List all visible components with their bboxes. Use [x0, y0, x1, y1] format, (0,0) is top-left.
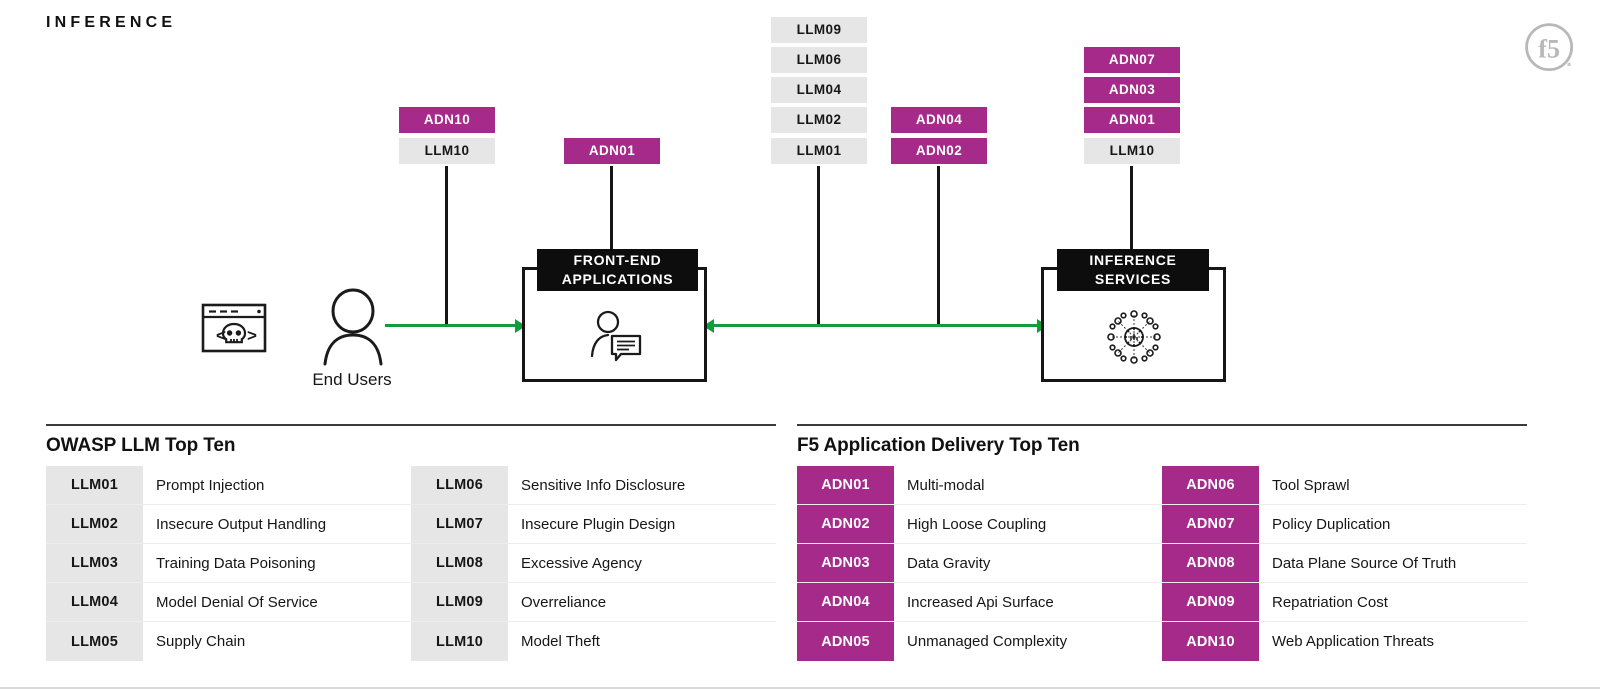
f5-adn-column-1: ADN01 Multi-modal ADN02 High Loose Coupl… — [797, 466, 1162, 661]
table-row[interactable]: LLM02 Insecure Output Handling — [46, 505, 411, 544]
section-title-owasp-llm: OWASP LLM Top Ten — [46, 435, 776, 457]
badge-llm01-transit: LLM01 — [771, 138, 867, 164]
connector-line-frontend-top — [610, 166, 613, 250]
table-row[interactable]: ADN02 High Loose Coupling — [797, 505, 1162, 544]
f5-application-delivery-top-ten-section: F5 Application Delivery Top Ten ADN01 Mu… — [797, 424, 1527, 661]
row-code: ADN02 — [797, 505, 894, 543]
row-code: LLM09 — [411, 583, 508, 621]
table-row[interactable]: ADN06 Tool Sprawl — [1162, 466, 1527, 505]
badge-adn04-transit: ADN04 — [891, 107, 987, 133]
chat-user-icon — [588, 310, 642, 362]
owasp-llm-column-2: LLM06 Sensitive Info Disclosure LLM07 In… — [411, 466, 776, 661]
row-code: ADN07 — [1162, 505, 1259, 543]
row-code: ADN09 — [1162, 583, 1259, 621]
section-title-f5-adn: F5 Application Delivery Top Ten — [797, 435, 1527, 457]
row-code: LLM07 — [411, 505, 508, 543]
end-users-label: End Users — [272, 370, 432, 390]
row-code: ADN04 — [797, 583, 894, 621]
malicious-code-browser-icon: < > — [201, 303, 267, 358]
table-row[interactable]: ADN09 Repatriation Cost — [1162, 583, 1527, 622]
owasp-llm-top-ten-section: OWASP LLM Top Ten LLM01 Prompt Injection… — [46, 424, 776, 661]
owasp-llm-table: LLM01 Prompt Injection LLM02 Insecure Ou… — [46, 466, 776, 661]
row-code: ADN03 — [797, 544, 894, 582]
row-code: LLM04 — [46, 583, 143, 621]
node-inference-services-header: INFERENCE SERVICES — [1057, 249, 1209, 291]
svg-text:>: > — [247, 326, 257, 345]
connector-line-transit-adn — [937, 166, 940, 327]
row-label: Tool Sprawl — [1259, 466, 1527, 504]
row-code: ADN01 — [797, 466, 894, 504]
row-label: Prompt Injection — [143, 466, 411, 504]
node-front-end-applications-title-line1: FRONT-END — [562, 251, 674, 270]
node-inference-services-title-line2: SERVICES — [1089, 270, 1176, 289]
arrow-endusers-to-frontend-line — [385, 324, 517, 327]
owasp-llm-column-1: LLM01 Prompt Injection LLM02 Insecure Ou… — [46, 466, 411, 661]
f5-adn-column-2: ADN06 Tool Sprawl ADN07 Policy Duplicati… — [1162, 466, 1527, 661]
row-code: LLM06 — [411, 466, 508, 504]
row-label: Multi-modal — [894, 466, 1162, 504]
f5-adn-table: ADN01 Multi-modal ADN02 High Loose Coupl… — [797, 466, 1527, 661]
table-row[interactable]: LLM06 Sensitive Info Disclosure — [411, 466, 776, 505]
table-row[interactable]: ADN04 Increased Api Surface — [797, 583, 1162, 622]
badge-llm09-transit: LLM09 — [771, 17, 867, 43]
row-label: Model Denial Of Service — [143, 583, 411, 621]
arrow-frontend-inference-line — [712, 324, 1039, 327]
row-label: Training Data Poisoning — [143, 544, 411, 582]
node-front-end-applications-title-line2: APPLICATIONS — [562, 270, 674, 289]
end-user-person-icon — [316, 288, 390, 371]
table-row[interactable]: LLM07 Insecure Plugin Design — [411, 505, 776, 544]
badge-llm02-transit: LLM02 — [771, 107, 867, 133]
badge-adn01-frontend: ADN01 — [564, 138, 660, 164]
architecture-diagram: ADN10 LLM10 ADN01 LLM09 LLM06 LLM04 LLM0… — [0, 0, 1600, 420]
row-code: ADN08 — [1162, 544, 1259, 582]
row-label: Supply Chain — [143, 622, 411, 661]
badge-adn01-inference: ADN01 — [1084, 107, 1180, 133]
node-front-end-applications-header: FRONT-END APPLICATIONS — [537, 249, 698, 291]
row-code: LLM01 — [46, 466, 143, 504]
row-label: Web Application Threats — [1259, 622, 1527, 661]
row-code: ADN06 — [1162, 466, 1259, 504]
row-label: Model Theft — [508, 622, 776, 661]
section-divider-left — [46, 424, 776, 426]
table-row[interactable]: ADN03 Data Gravity — [797, 544, 1162, 583]
table-row[interactable]: ADN01 Multi-modal — [797, 466, 1162, 505]
badge-llm10-inference: LLM10 — [1084, 138, 1180, 164]
row-label: Overreliance — [508, 583, 776, 621]
row-label: Insecure Plugin Design — [508, 505, 776, 543]
row-label: Data Gravity — [894, 544, 1162, 582]
badge-llm04-transit: LLM04 — [771, 77, 867, 103]
row-label: Sensitive Info Disclosure — [508, 466, 776, 504]
table-row[interactable]: ADN07 Policy Duplication — [1162, 505, 1527, 544]
table-row[interactable]: LLM04 Model Denial Of Service — [46, 583, 411, 622]
table-row[interactable]: LLM01 Prompt Injection — [46, 466, 411, 505]
row-code: ADN10 — [1162, 622, 1259, 661]
table-row[interactable]: ADN10 Web Application Threats — [1162, 622, 1527, 661]
row-code: LLM02 — [46, 505, 143, 543]
badge-adn02-transit: ADN02 — [891, 138, 987, 164]
row-code: LLM10 — [411, 622, 508, 661]
badge-adn10-frontend: ADN10 — [399, 107, 495, 133]
badge-llm10-frontend: LLM10 — [399, 138, 495, 164]
row-label: Increased Api Surface — [894, 583, 1162, 621]
inference-architecture-page: INFERENCE f5 ADN10 LLM10 ADN01 LLM09 LLM… — [0, 0, 1600, 689]
section-divider-right — [797, 424, 1527, 426]
row-label: Policy Duplication — [1259, 505, 1527, 543]
connector-line-frontend-left — [445, 166, 448, 327]
table-row[interactable]: LLM10 Model Theft — [411, 622, 776, 661]
badge-adn03-inference: ADN03 — [1084, 77, 1180, 103]
row-label: High Loose Coupling — [894, 505, 1162, 543]
row-label: Unmanaged Complexity — [894, 622, 1162, 661]
table-row[interactable]: LLM05 Supply Chain — [46, 622, 411, 661]
table-row[interactable]: LLM08 Excessive Agency — [411, 544, 776, 583]
row-code: LLM08 — [411, 544, 508, 582]
table-row[interactable]: LLM03 Training Data Poisoning — [46, 544, 411, 583]
table-row[interactable]: ADN05 Unmanaged Complexity — [797, 622, 1162, 661]
row-code: LLM05 — [46, 622, 143, 661]
ai-hub-network-icon — [1105, 308, 1163, 366]
badge-adn07-inference: ADN07 — [1084, 47, 1180, 73]
row-label: Insecure Output Handling — [143, 505, 411, 543]
row-code: LLM03 — [46, 544, 143, 582]
table-row[interactable]: ADN08 Data Plane Source Of Truth — [1162, 544, 1527, 583]
table-row[interactable]: LLM09 Overreliance — [411, 583, 776, 622]
row-label: Excessive Agency — [508, 544, 776, 582]
connector-line-inference — [1130, 166, 1133, 250]
row-label: Data Plane Source Of Truth — [1259, 544, 1527, 582]
connector-line-transit-llm — [817, 166, 820, 327]
row-label: Repatriation Cost — [1259, 583, 1527, 621]
node-inference-services-title-line1: INFERENCE — [1089, 251, 1176, 270]
badge-llm06-transit: LLM06 — [771, 47, 867, 73]
row-code: ADN05 — [797, 622, 894, 661]
